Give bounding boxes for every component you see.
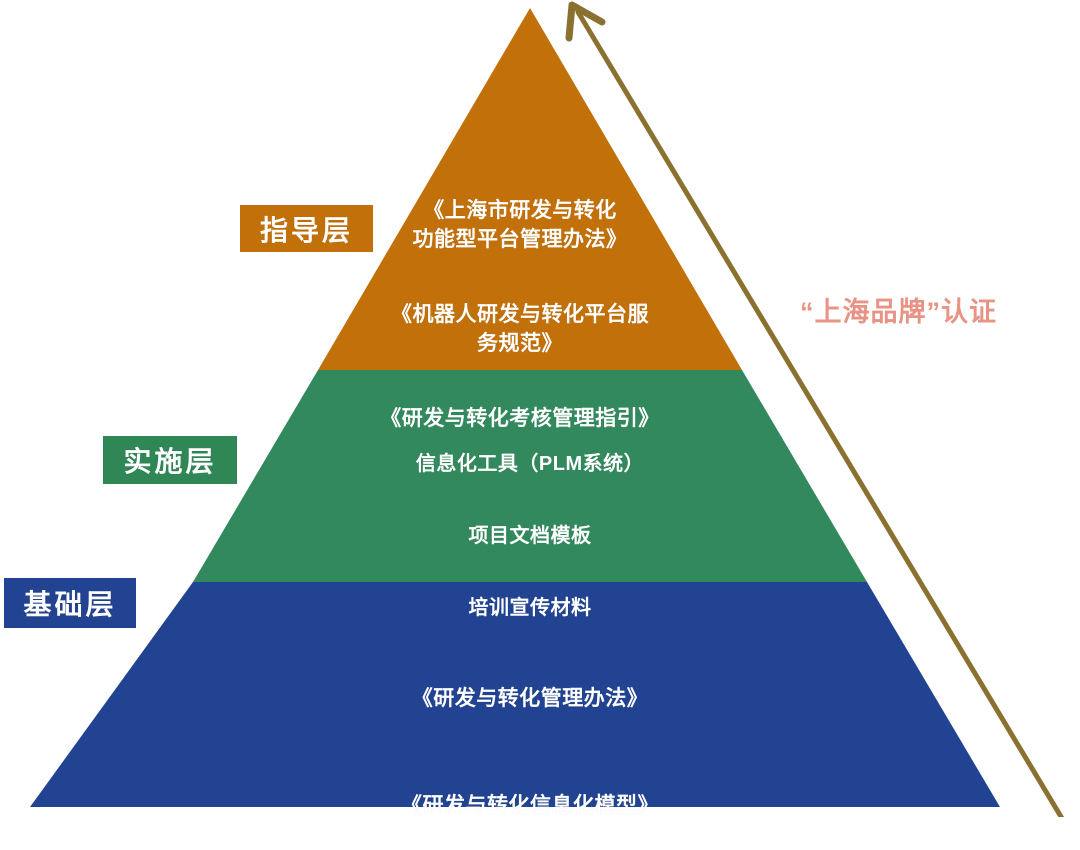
tier-label-foundation: 基础层 <box>4 578 136 628</box>
pyramid-diagram: 《上海市研发与转化 功能型平台管理办法》 《机器人研发与转化平台服 务规范》 《… <box>0 0 1080 817</box>
tier-implementation-line-1: 信息化工具（PLM系统） <box>320 451 740 479</box>
tier-foundation-text: 《研发与转化管理办法》 《研发与转化信息化模型》 <box>300 656 760 850</box>
tier-label-implementation: 实施层 <box>103 436 237 484</box>
tier-guidance-line-2: 《机器人研发与转化平台服 务规范》 <box>340 301 700 359</box>
tier-guidance-text: 《上海市研发与转化 功能型平台管理办法》 《机器人研发与转化平台服 务规范》 《… <box>340 168 700 463</box>
tier-implementation-line-3: 培训宣传材料 <box>320 595 740 623</box>
tier-implementation-line-2: 项目文档模板 <box>320 523 740 551</box>
tier-implementation-text: 信息化工具（PLM系统） 项目文档模板 培训宣传材料 <box>320 423 740 650</box>
tier-guidance-line-1: 《上海市研发与转化 功能型平台管理办法》 <box>340 197 700 255</box>
brand-certification-annotation: “上海品牌”认证 <box>800 290 997 329</box>
tier-label-guidance: 指导层 <box>240 205 373 252</box>
tier-foundation-line-1: 《研发与转化管理办法》 <box>300 685 760 714</box>
